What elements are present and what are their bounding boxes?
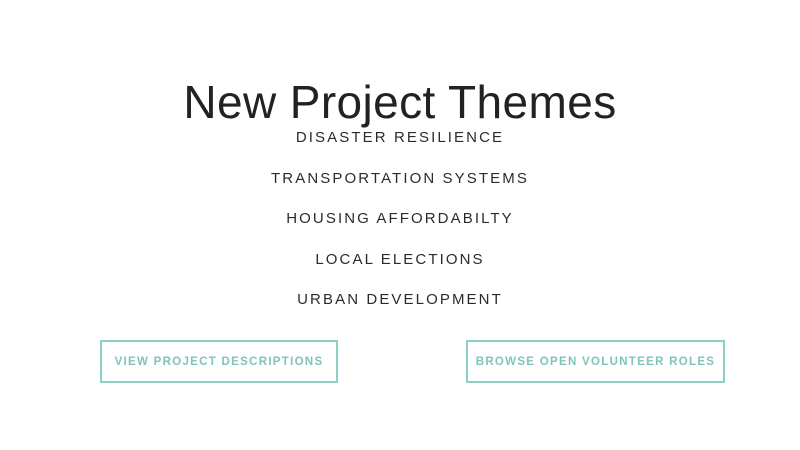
browse-open-volunteer-roles-button[interactable]: BROWSE OPEN VOLUNTEER ROLES (466, 340, 725, 383)
view-project-descriptions-button[interactable]: VIEW PROJECT DESCRIPTIONS (100, 340, 338, 383)
list-item: HOUSING AFFORDABILTY (0, 209, 800, 250)
theme-list: DISASTER RESILIENCE TRANSPORTATION SYSTE… (0, 128, 800, 331)
project-themes-page: New Project Themes DISASTER RESILIENCE T… (0, 0, 800, 450)
list-item: TRANSPORTATION SYSTEMS (0, 169, 800, 210)
page-title: New Project Themes (0, 77, 800, 128)
list-item: URBAN DEVELOPMENT (0, 290, 800, 331)
list-item: DISASTER RESILIENCE (0, 128, 800, 169)
call-to-action-row: VIEW PROJECT DESCRIPTIONS BROWSE OPEN VO… (0, 340, 800, 384)
list-item: LOCAL ELECTIONS (0, 250, 800, 291)
